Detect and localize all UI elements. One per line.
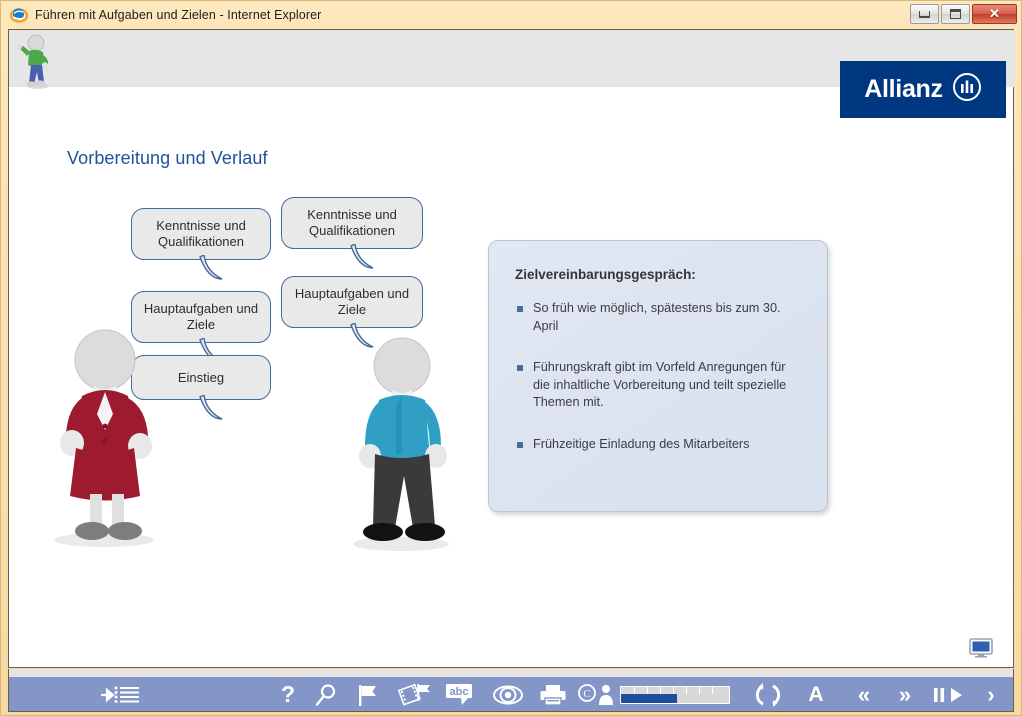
bullet-square-icon <box>517 442 523 448</box>
panel-heading: Zielvereinbarungsgespräch: <box>515 267 805 282</box>
svg-text:C: C <box>583 688 590 700</box>
panel-bullet-item: Führungskraft gibt im Vorfeld Anregungen… <box>515 359 805 412</box>
progress-slider[interactable] <box>620 686 730 704</box>
film-bookmark-icon[interactable] <box>397 677 433 712</box>
bubble-text: Kenntnisse und Qualifikationen <box>282 207 422 239</box>
bullet-square-icon <box>517 306 523 312</box>
eye-preview-icon[interactable] <box>491 677 525 712</box>
content-pane: Allianz Vorbereitung und Verlauf Kenntni… <box>8 29 1014 668</box>
panel-item-text: Führungskraft gibt im Vorfeld Anregungen… <box>533 359 805 412</box>
figure-employee-male <box>339 330 469 557</box>
player-toolbar: ? <box>8 677 1014 712</box>
glossary-abc-icon[interactable]: abc <box>444 677 478 712</box>
pointing-figure-mascot <box>17 33 59 91</box>
panel-bullet-item: Frühzeitige Einladung des Mitarbeiters <box>515 436 805 454</box>
speech-bubble-kenntnisse-right: Kenntnisse und Qualifikationen <box>281 197 423 249</box>
allianz-logo: Allianz <box>840 61 1006 118</box>
bubble-text: Hauptaufgaben und Ziele <box>282 286 422 318</box>
next-section-button[interactable]: » <box>891 677 919 712</box>
font-size-icon[interactable]: A <box>802 677 830 712</box>
flag-icon[interactable] <box>354 677 382 712</box>
bullet-square-icon <box>517 365 523 371</box>
speech-bubble-kenntnisse-left: Kenntnisse und Qualifikationen <box>131 208 271 260</box>
title-bar: Führen mit Aufgaben und Zielen - Interne… <box>1 1 1022 28</box>
minimize-button[interactable] <box>910 4 939 24</box>
info-panel: Zielvereinbarungsgespräch: So früh wie m… <box>488 240 828 512</box>
panel-item-text: Frühzeitige Einladung des Mitarbeiters <box>533 436 750 454</box>
window-controls: ✕ <box>910 4 1017 24</box>
replay-refresh-icon[interactable] <box>751 677 785 712</box>
window-title: Führen mit Aufgaben und Zielen - Interne… <box>35 8 321 22</box>
slider-ticks <box>621 687 729 694</box>
page-title: Vorbereitung und Verlauf <box>67 148 268 169</box>
panel-bullet-item: So früh wie möglich, spätestens bis zum … <box>515 300 805 335</box>
maximize-button[interactable] <box>941 4 970 24</box>
course-header-band: Allianz <box>9 30 1015 87</box>
bubble-tail-icon <box>198 255 240 285</box>
bubble-text: Kenntnisse und Qualifikationen <box>132 218 270 250</box>
search-icon[interactable] <box>311 677 341 712</box>
outline-menu-icon[interactable] <box>97 677 143 712</box>
figure-manager-female <box>42 318 187 553</box>
pause-play-button[interactable] <box>927 677 971 712</box>
bubble-tail-icon <box>349 244 391 274</box>
panel-item-text: So früh wie möglich, spätestens bis zum … <box>533 300 805 335</box>
next-page-button[interactable]: › <box>977 677 1005 712</box>
monitor-screen-icon[interactable] <box>969 638 993 658</box>
toolbar-divider <box>8 669 1014 677</box>
allianz-wordmark: Allianz <box>864 75 942 104</box>
copyright-credits-icon[interactable]: C <box>576 677 618 712</box>
progress-slider-fill <box>621 694 677 703</box>
previous-section-button[interactable]: « <box>850 677 878 712</box>
bubble-tail-icon <box>198 395 240 425</box>
browser-window: Führen mit Aufgaben und Zielen - Interne… <box>0 0 1022 716</box>
speech-bubble-hauptaufgaben-right: Hauptaufgaben und Ziele <box>281 276 423 328</box>
help-icon[interactable]: ? <box>274 677 302 712</box>
print-icon[interactable] <box>537 677 569 712</box>
svg-text:abc: abc <box>450 686 469 698</box>
close-button[interactable]: ✕ <box>972 4 1017 24</box>
internet-explorer-icon <box>10 6 28 24</box>
allianz-eagle-icon <box>952 72 982 107</box>
